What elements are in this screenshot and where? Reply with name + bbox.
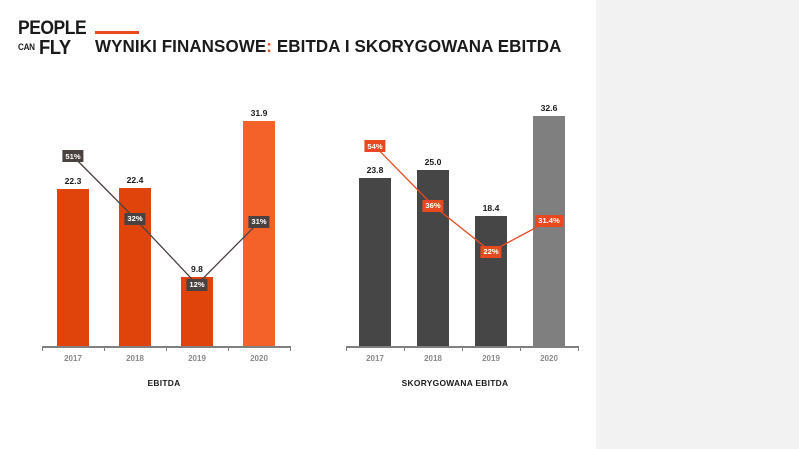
chart-skorygowana-ebitda-title: SKORYGOWANA EBITDA bbox=[330, 378, 580, 388]
logo-line-people: PEOPLE bbox=[18, 20, 79, 37]
axis-tick bbox=[42, 346, 43, 351]
title-accent-rule bbox=[95, 31, 139, 34]
chart-ebitda-title: EBITDA bbox=[28, 378, 300, 388]
x-axis-label-2018: 2018 bbox=[111, 354, 159, 363]
margin-pct-label: 36% bbox=[422, 200, 443, 212]
margin-pct-label: 32% bbox=[124, 213, 145, 225]
axis-tick bbox=[404, 346, 405, 351]
x-axis-label-2017: 2017 bbox=[351, 354, 399, 363]
chart-skorygowana-ebitda-plot: 23.825.018.432.654%36%22%31.4% bbox=[330, 96, 580, 346]
logo-word-fly: FLY bbox=[39, 39, 71, 57]
axis-tick bbox=[104, 346, 105, 351]
axis-tick bbox=[520, 346, 521, 351]
x-axis-label-2019: 2019 bbox=[173, 354, 221, 363]
page-title-part1: WYNIKI FINANSOWE bbox=[95, 36, 266, 56]
margin-pct-label: 12% bbox=[186, 279, 207, 291]
logo-word-can: CAN bbox=[18, 39, 35, 57]
axis-tick bbox=[578, 346, 579, 351]
margin-pct-label: 54% bbox=[364, 140, 385, 152]
margin-pct-label: 51% bbox=[62, 150, 83, 162]
chart-ebitda: 22.322.49.831.951%32%12%31% EBITDA 20172… bbox=[28, 96, 300, 386]
axis-tick bbox=[462, 346, 463, 351]
right-info-panel: Skorygowana EBITDA Grupy w 2020 roku wzr… bbox=[596, 0, 799, 449]
axis-tick bbox=[166, 346, 167, 351]
x-axis-label-2019: 2019 bbox=[467, 354, 515, 363]
slide: PEOPLE CAN FLY WYNIKI FINANSOWE: EBITDA … bbox=[0, 0, 799, 449]
x-axis-label-2020: 2020 bbox=[235, 354, 283, 363]
x-axis-label-2020: 2020 bbox=[525, 354, 573, 363]
logo-people-can-fly: PEOPLE CAN FLY bbox=[18, 20, 84, 66]
chart-skorygowana-ebitda: 23.825.018.432.654%36%22%31.4% SKORYGOWA… bbox=[330, 96, 580, 386]
margin-pct-label: 31% bbox=[248, 216, 269, 228]
page-title-part2: EBITDA I SKORYGOWANA EBITDA bbox=[272, 36, 561, 56]
axis-tick bbox=[228, 346, 229, 351]
x-axis-label-2018: 2018 bbox=[409, 354, 457, 363]
axis-tick bbox=[290, 346, 291, 351]
margin-pct-label: 22% bbox=[480, 246, 501, 258]
chart-ebitda-plot: 22.322.49.831.951%32%12%31% bbox=[28, 96, 300, 346]
margin-pct-label: 31.4% bbox=[535, 215, 563, 227]
axis-tick bbox=[346, 346, 347, 351]
x-axis-label-2017: 2017 bbox=[49, 354, 97, 363]
page-title: WYNIKI FINANSOWE: EBITDA I SKORYGOWANA E… bbox=[95, 36, 551, 57]
